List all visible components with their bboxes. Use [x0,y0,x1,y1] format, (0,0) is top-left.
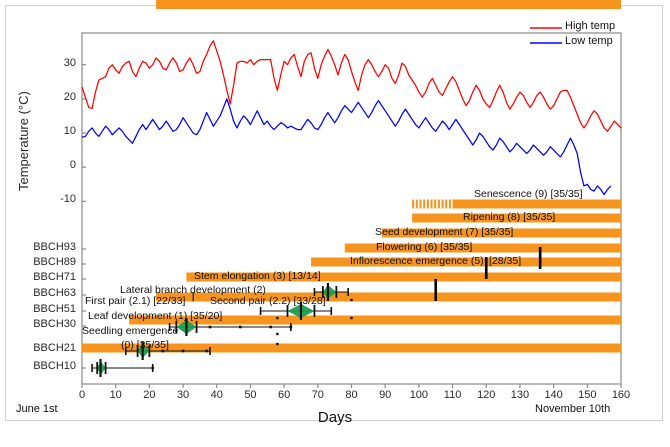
annotation-senescence: Senescence (9) [35/35] [474,189,583,200]
legend-label-0: High temp [565,20,615,32]
scatter-point-1 [276,333,278,335]
x-axis-end-label: November 10th [535,403,610,415]
phenology-bar-senescence [412,200,621,209]
annotation-inflorescence: Inflorescence emergence (5) [350,256,484,267]
y-tick-label-temp: 10 [36,125,76,137]
series-line-high-temp [82,41,621,132]
annotation-stem-elongation: Stem elongation (3) [13/14] [194,271,321,282]
y-tick-label-bbch93: BBCH93 [14,241,76,253]
x-tick-label: 160 [601,389,641,401]
annotation-first-pair: First pair (2.1) [22/33] [85,296,185,307]
annotation-ripening: Ripening (8) [35/35] [463,212,555,223]
y-tick-label-temp: 30 [36,57,76,69]
y-tick-label-bbch10: BBCH10 [14,360,76,372]
scatter-point-2 [276,343,278,345]
y-tick-label-bbch30: BBCH30 [14,318,76,330]
scatter-point-4 [350,317,352,319]
annotation-second-pair: Second pair (2.2) [33/28] [210,296,326,307]
annotation-leaf-development: Leaf development (1) [35/20] [88,311,222,322]
annotation-seedling-emergence-count: (0) [35/35] [121,340,169,351]
y-tick-label-temp: -10 [36,193,76,205]
y-tick-label-bbch71: BBCH71 [14,271,76,283]
y-tick-label-temp: 0 [36,159,76,171]
scatter-point-0 [276,317,278,319]
x-axis-start-label: June 1st [16,403,58,415]
legend-label-1: Low temp [565,35,613,47]
annotation-seed-development: Seed development (7) [35/35] [375,227,513,238]
annotation-seedling-emergence: Seedling emergence [82,326,178,337]
y-tick-label-bbch21: BBCH21 [14,342,76,354]
y-tick-label-bbch51: BBCH51 [14,303,76,315]
bbch10-box [92,359,154,377]
series-line-low-temp [82,99,611,195]
phenology-bar-lateral-branch [156,0,621,9]
annotation-flowering: Flowering (6) [35/35] [376,242,472,253]
y-tick-label-bbch89: BBCH89 [14,256,76,268]
scatter-point-3 [350,299,352,301]
annotation-inflorescence-count: [28/35] [489,256,521,267]
y-tick-label-bbch63: BBCH63 [14,287,76,299]
plot-canvas [0,0,670,447]
y-tick-label-temp: 20 [36,91,76,103]
figure-root: Temperature (°C) Days June 1st November … [0,0,670,447]
